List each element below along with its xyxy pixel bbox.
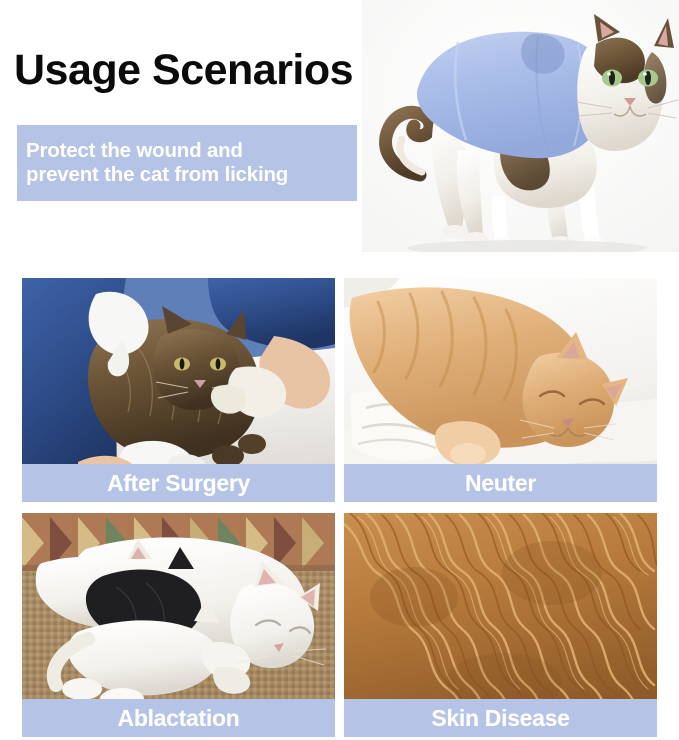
scenario-card-ablactation: Ablactation [22,513,335,737]
page-title: Usage Scenarios [14,48,353,93]
scenario-card-after-surgery: After Surgery [22,278,335,502]
scenario-card-neuter: Neuter [344,278,657,502]
headline-line-1: Protect the wound and [26,139,357,163]
scenario-card-skin-disease: Skin Disease [344,513,657,737]
caption-after-surgery: After Surgery [22,464,335,502]
caption-skin-disease: Skin Disease [344,699,657,737]
usage-scenarios-infographic: Usage Scenarios Protect the wound and pr… [0,0,679,740]
hero-photo-cat-in-recovery-suit [362,0,679,252]
headline-line-2: prevent the cat from licking [26,163,357,187]
caption-neuter: Neuter [344,464,657,502]
caption-ablactation: Ablactation [22,699,335,737]
scenario-grid: After Surgery [22,278,657,738]
headline-banner: Protect the wound and prevent the cat fr… [17,125,357,201]
